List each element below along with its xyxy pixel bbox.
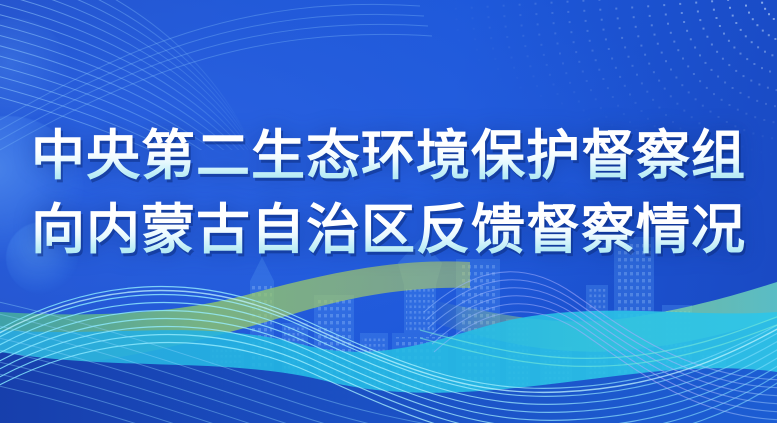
glow-orb-icon [0, 18, 70, 128]
title-line-2: 向内蒙古自治区反馈督察情况 [0, 192, 777, 266]
poster-title: 中央第二生态环境保护督察组 向内蒙古自治区反馈督察情况 [0, 118, 777, 266]
title-line-1: 中央第二生态环境保护督察组 [0, 118, 777, 192]
banner-poster: 中央第二生态环境保护督察组 向内蒙古自治区反馈督察情况 [0, 0, 777, 423]
